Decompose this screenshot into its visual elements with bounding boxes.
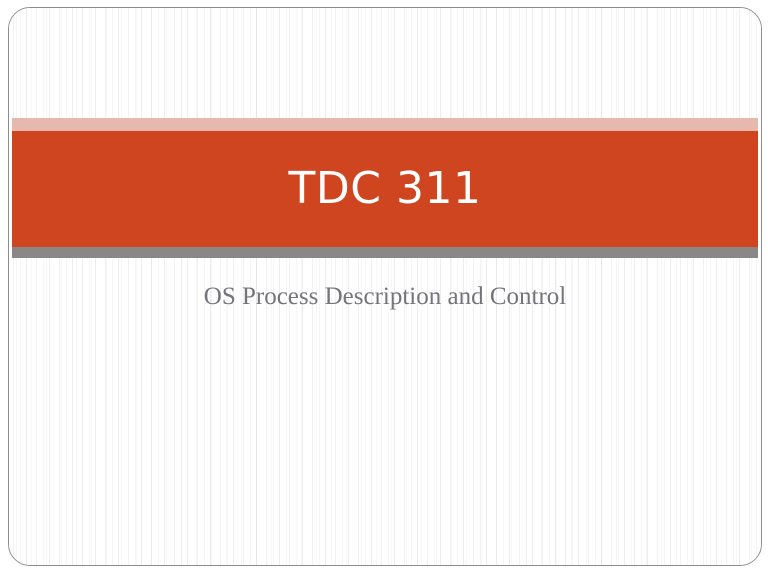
- presentation-canvas: TDC 311 OS Process Description and Contr…: [0, 0, 768, 576]
- slide-subtitle: OS Process Description and Control: [9, 282, 761, 312]
- slide-title: TDC 311: [289, 167, 482, 211]
- title-banner-accent-bottom: [12, 247, 758, 258]
- title-banner: TDC 311: [12, 131, 758, 247]
- slide-sheet: TDC 311 OS Process Description and Contr…: [8, 7, 762, 566]
- title-banner-accent-top: [12, 118, 758, 131]
